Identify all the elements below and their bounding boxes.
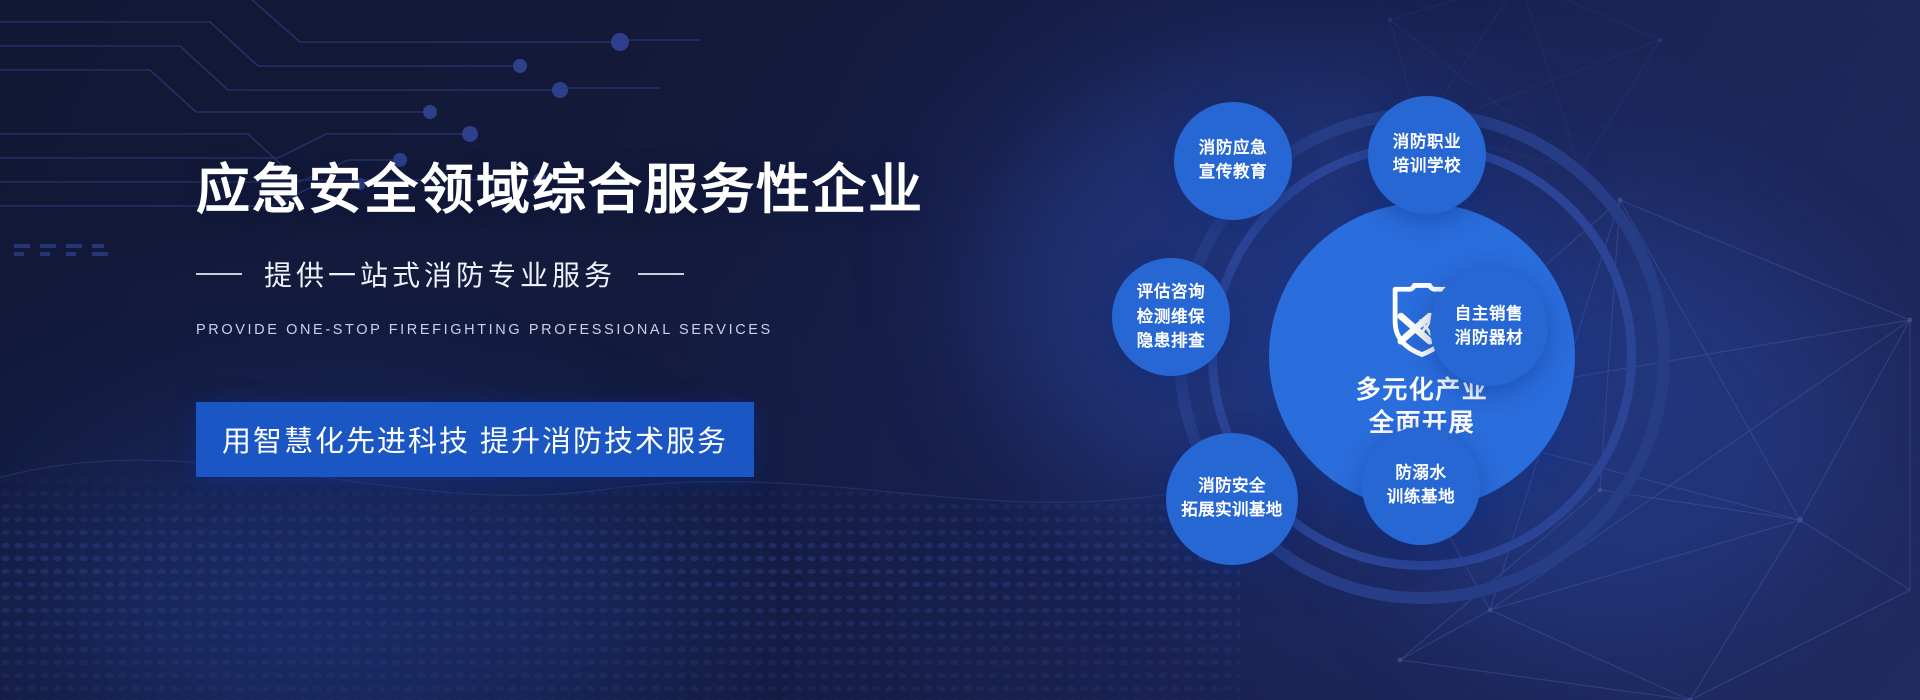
node-assessment-inspection[interactable]: 评估咨询 检测维保 隐患排查	[1112, 258, 1230, 376]
services-circle-diagram: XAN 多元化产业 全面开展 消防应急 宣传教育 消防职业 培训学校 自主销售 …	[1130, 78, 1740, 623]
node-anti-drowning-base[interactable]: 防溺水 训练基地	[1362, 427, 1480, 545]
rule-left-icon	[196, 273, 242, 275]
node-line2: 消防器材	[1455, 327, 1523, 351]
node-line1: 自主销售	[1455, 303, 1523, 327]
english-tagline: PROVIDE ONE-STOP FIREFIGHTING PROFESSION…	[196, 322, 956, 338]
node-fire-emergency-publicity[interactable]: 消防应急 宣传教育	[1174, 102, 1292, 220]
node-line1: 防溺水	[1395, 462, 1446, 486]
page-subtitle: 提供一站式消防专业服务	[264, 254, 616, 294]
node-equipment-sales[interactable]: 自主销售 消防器材	[1430, 268, 1548, 386]
node-line2: 宣传教育	[1199, 161, 1267, 185]
node-line1: 消防职业	[1393, 131, 1461, 155]
cta-banner[interactable]: 用智慧化先进科技 提升消防技术服务	[196, 402, 754, 477]
cta-banner-label: 用智慧化先进科技 提升消防技术服务	[222, 426, 728, 458]
node-line2: 拓展实训基地	[1181, 499, 1282, 523]
node-fire-vocational-school[interactable]: 消防职业 培训学校	[1368, 96, 1486, 214]
node-line2: 检测维保	[1137, 305, 1205, 330]
node-line1: 评估咨询	[1137, 280, 1205, 305]
hero-banner: 应急安全领域综合服务性企业 提供一站式消防专业服务 PROVIDE ONE-ST…	[0, 0, 1920, 700]
subtitle-row: 提供一站式消防专业服务	[196, 254, 956, 294]
node-line1: 消防安全	[1198, 475, 1266, 499]
node-line3: 隐患排查	[1137, 329, 1205, 354]
node-line2: 训练基地	[1387, 486, 1455, 510]
page-title: 应急安全领域综合服务性企业	[196, 160, 956, 220]
node-line1: 消防应急	[1199, 137, 1267, 161]
node-line2: 培训学校	[1393, 155, 1461, 179]
node-safety-training-base[interactable]: 消防安全 拓展实训基地	[1166, 433, 1298, 565]
rule-right-icon	[638, 273, 684, 275]
hero-text-block: 应急安全领域综合服务性企业 提供一站式消防专业服务 PROVIDE ONE-ST…	[196, 160, 956, 477]
